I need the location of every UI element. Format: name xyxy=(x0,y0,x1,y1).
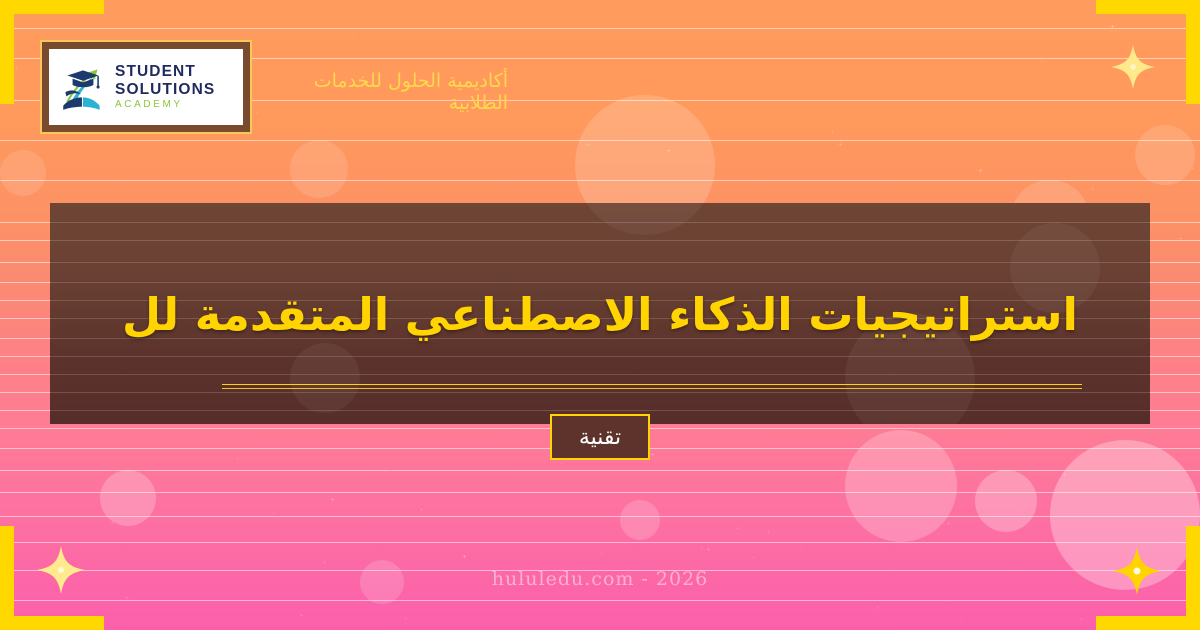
corner-bracket-icon xyxy=(1096,0,1200,14)
poster-canvas: STUDENT SOLUTIONS ACADEMY أكاديمية الحلو… xyxy=(0,0,1200,630)
sparkle-dot xyxy=(948,600,951,603)
sparkle-dot xyxy=(1040,60,1043,63)
sparkle-dot xyxy=(352,36,355,39)
scanline xyxy=(50,262,1150,263)
sparkle-dot xyxy=(322,560,327,565)
scanline xyxy=(0,600,1200,601)
sparkle-dot xyxy=(1110,24,1115,29)
sparkle-dot xyxy=(272,512,275,515)
sparkle-dot xyxy=(1168,540,1171,543)
sparkle-dot xyxy=(300,614,303,617)
decor-circle xyxy=(290,140,348,198)
scanline xyxy=(0,516,1200,517)
sparkle-dot xyxy=(1090,186,1095,191)
sparkle-dot xyxy=(978,168,983,173)
sparkle-dot xyxy=(462,554,467,559)
brand-logo: STUDENT SOLUTIONS ACADEMY xyxy=(49,49,243,125)
brand-logo-frame: STUDENT SOLUTIONS ACADEMY xyxy=(40,40,252,134)
sparkle-dot xyxy=(900,510,903,513)
sparkle-dot xyxy=(876,606,879,609)
title-underline xyxy=(222,384,1082,389)
scanline xyxy=(0,492,1200,493)
sparkle-dot xyxy=(236,457,239,460)
sparkle-dot xyxy=(420,508,423,511)
sparkle-dot xyxy=(830,130,835,135)
sparkle-dot xyxy=(838,142,843,147)
sparkle-dot xyxy=(736,527,739,530)
decor-circle xyxy=(975,470,1037,532)
scanline xyxy=(0,28,1200,29)
sparkle-dot xyxy=(700,546,703,549)
corner-bracket-top-right xyxy=(1096,0,1200,104)
scanline xyxy=(50,240,1150,241)
decor-circle xyxy=(620,500,660,540)
sparkle-dot xyxy=(110,520,115,525)
scanline xyxy=(50,392,1150,393)
sparkle-dot xyxy=(516,430,519,433)
sparkle-dot xyxy=(946,521,951,526)
sparkle-dot xyxy=(1062,472,1067,477)
footer-watermark: hululedu.com - 2026 xyxy=(0,568,1200,590)
sparkle-dot xyxy=(560,462,563,465)
corner-bracket-icon xyxy=(0,616,104,630)
sparkle-dot xyxy=(600,552,603,555)
sparkle-dot xyxy=(752,556,755,559)
title-underline-line xyxy=(222,388,1082,389)
scanline xyxy=(50,222,1150,223)
sparkle-dot xyxy=(1178,236,1183,241)
logo-line-2: SOLUTIONS xyxy=(115,82,215,98)
decor-circle xyxy=(100,470,156,526)
corner-bracket-icon xyxy=(0,0,104,14)
decor-circle xyxy=(1135,125,1195,185)
corner-bracket-icon xyxy=(0,0,14,104)
sparkle-dot xyxy=(330,497,335,502)
sparkle-dot xyxy=(1080,618,1083,621)
decor-circle xyxy=(290,343,360,413)
graduation-cap-book-arrow-icon xyxy=(57,61,109,113)
sparkle-dot xyxy=(14,66,19,71)
title-underline-line xyxy=(222,384,1082,385)
decor-circle xyxy=(0,150,46,196)
sparkle-dot xyxy=(384,470,387,473)
brand-logo-wordmark: STUDENT SOLUTIONS ACADEMY xyxy=(115,64,215,110)
scanline xyxy=(0,140,1200,141)
category-badge: تقنية xyxy=(550,414,650,460)
scanline xyxy=(50,282,1150,283)
scanline xyxy=(0,542,1200,543)
sparkle-dot xyxy=(650,452,655,457)
scanline xyxy=(0,470,1200,471)
scanline xyxy=(0,180,1200,181)
corner-bracket-icon xyxy=(1186,0,1200,104)
logo-line-3: ACADEMY xyxy=(115,100,215,110)
scanline xyxy=(50,410,1150,411)
brand-arabic-name: أكاديمية الحلول للخدمات الطلابية xyxy=(258,70,508,114)
sparkle-dot xyxy=(586,142,591,147)
sparkle-dot xyxy=(125,596,129,600)
decor-circle xyxy=(845,430,957,542)
four-point-star-icon xyxy=(1110,44,1156,90)
logo-line-1: STUDENT xyxy=(115,64,215,80)
corner-bracket-icon xyxy=(1096,616,1200,630)
scanline xyxy=(50,374,1150,375)
sparkle-dot xyxy=(1190,166,1195,171)
scanline xyxy=(50,356,1150,357)
sparkle-dot xyxy=(706,547,711,552)
hero-title-band: استراتيجيات الذكاء الاصطناعي المتقدمة لل xyxy=(50,203,1150,424)
page-title: استراتيجيات الذكاء الاصطناعي المتقدمة لل xyxy=(50,289,1150,341)
sparkle-dot xyxy=(766,530,771,535)
sparkle-dot xyxy=(404,617,407,620)
sparkle-dot xyxy=(960,620,963,623)
sparkle-dot xyxy=(666,148,671,153)
sparkle-dot xyxy=(1020,510,1023,513)
sparkle-dot xyxy=(800,545,803,548)
